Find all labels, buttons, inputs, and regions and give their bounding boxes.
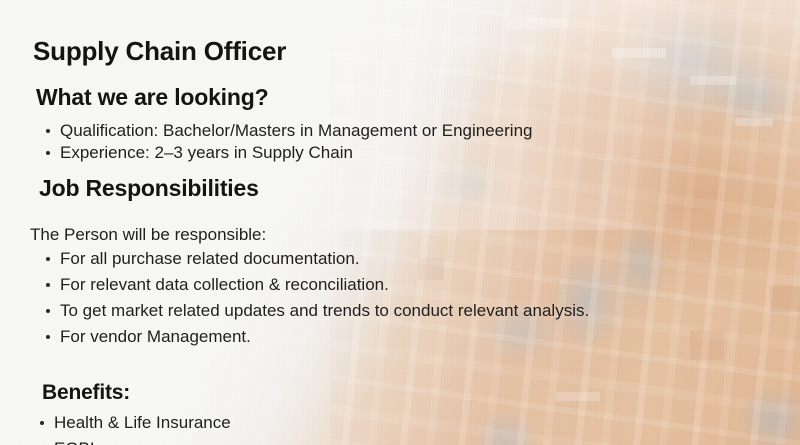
list-item: Experience: 2–3 years in Supply Chain [38,142,532,164]
qualification-list: Qualification: Bachelor/Masters in Manag… [38,120,532,164]
section-heading-looking: What we are looking? [36,84,268,111]
section-heading-responsibilities: Job Responsibilities [39,175,259,202]
poster-content: Supply Chain Officer What we are looking… [0,0,800,445]
list-item: Health & Life Insurance [32,410,231,436]
list-item: To get market related updates and trends… [38,298,589,324]
page-title: Supply Chain Officer [33,36,286,67]
benefits-list: Health & Life Insurance EOBI [32,410,231,445]
list-item: Qualification: Bachelor/Masters in Manag… [38,120,532,142]
responsibilities-list: For all purchase related documentation. … [38,246,589,350]
responsibilities-lead-text: The Person will be responsible: [30,225,266,245]
section-heading-benefits: Benefits: [42,381,130,405]
list-item: For relevant data collection & reconcili… [38,272,589,298]
list-item: For all purchase related documentation. [38,246,589,272]
list-item: EOBI [32,436,231,445]
list-item: For vendor Management. [38,324,589,350]
job-posting-poster: Supply Chain Officer What we are looking… [0,0,800,445]
